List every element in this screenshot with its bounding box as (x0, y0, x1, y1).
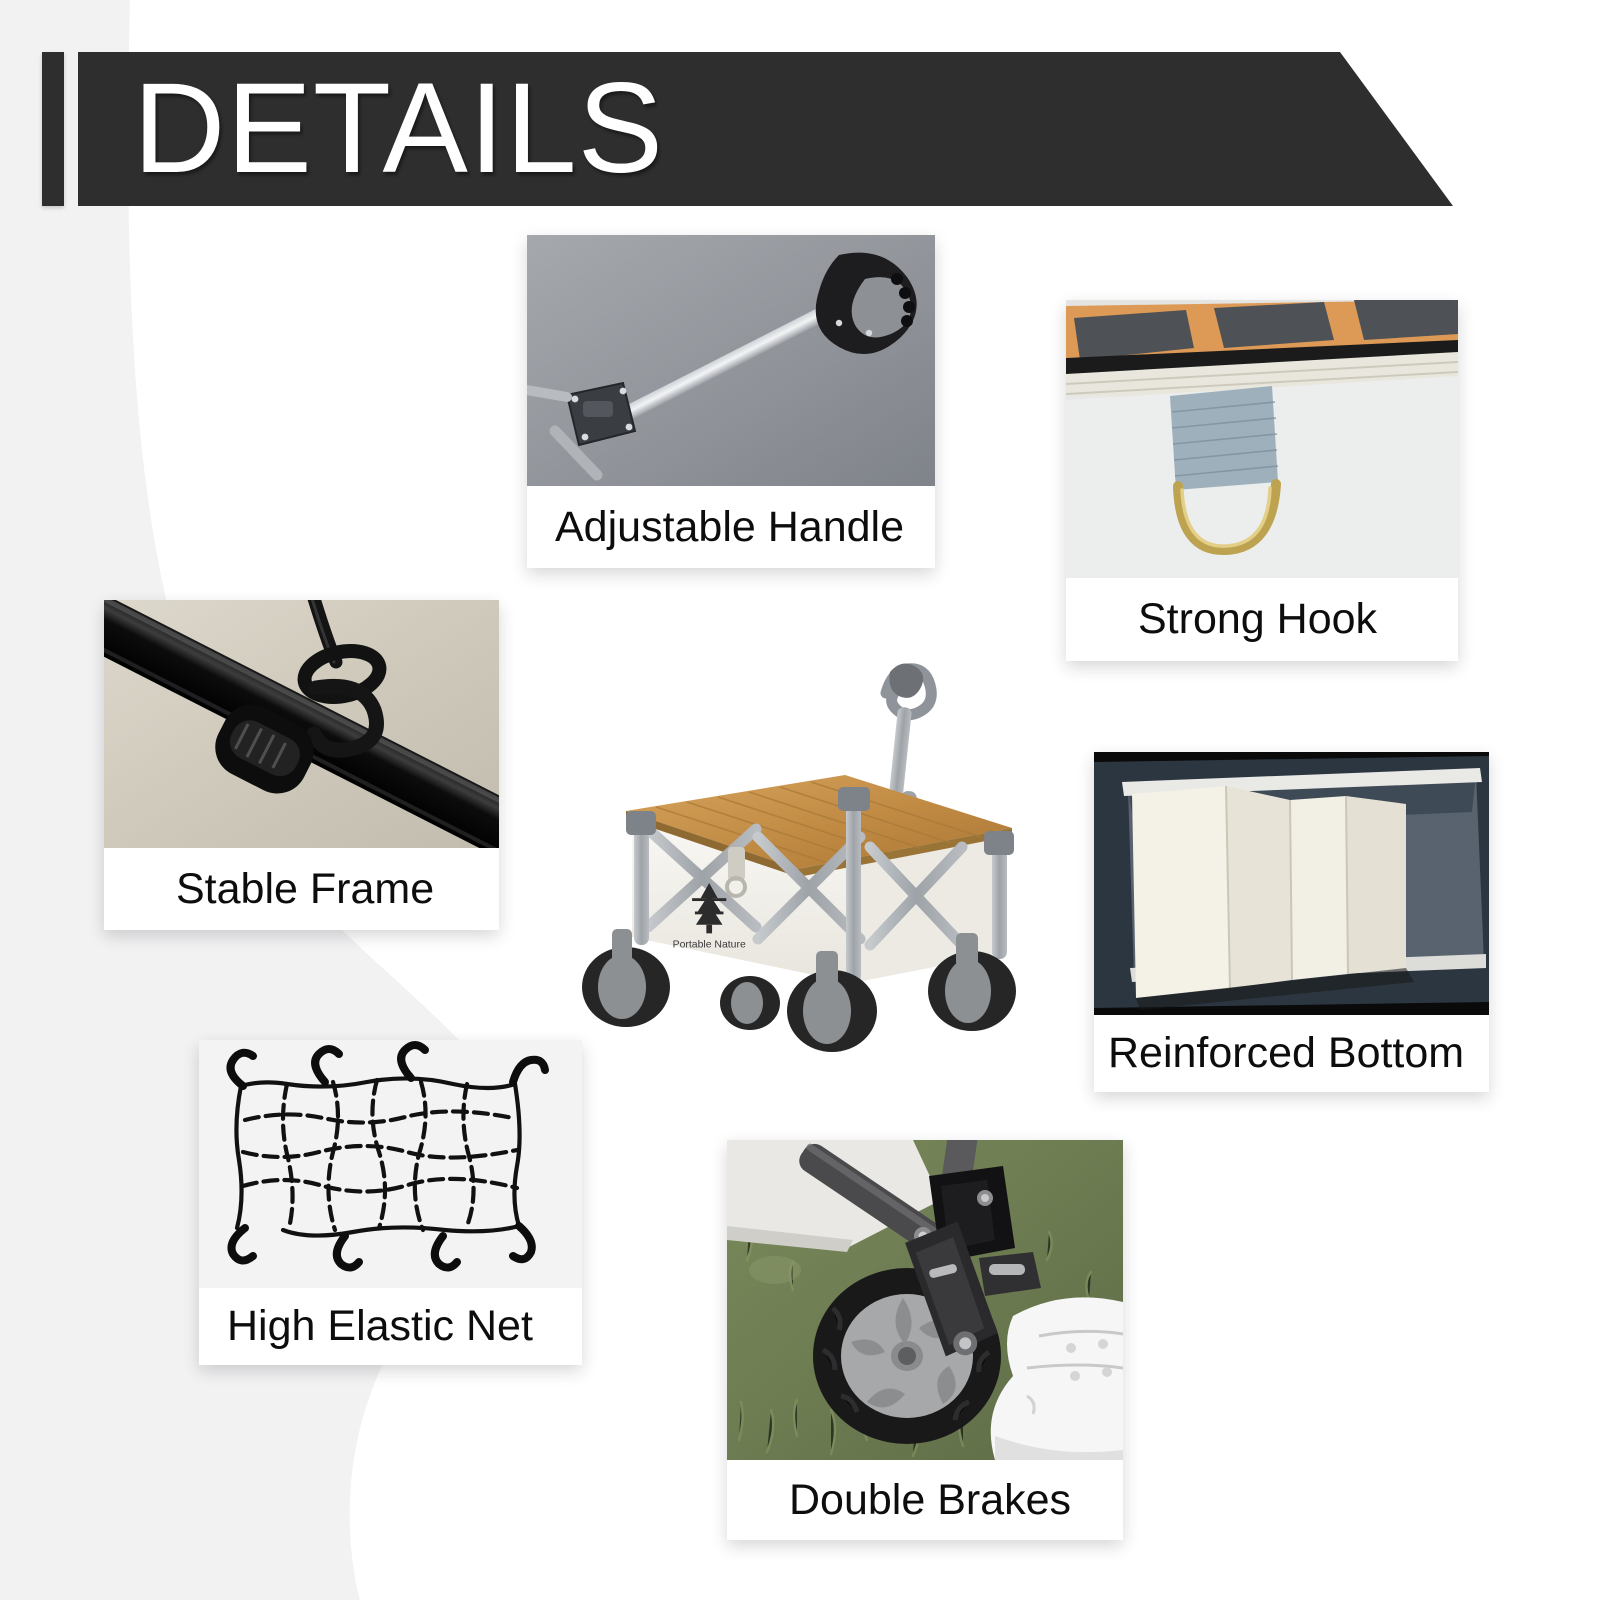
feature-photo-double-brakes (727, 1140, 1123, 1460)
feature-label-high-elastic-net: High Elastic Net (199, 1288, 582, 1365)
feature-card-strong-hook[interactable]: Strong Hook (1066, 300, 1458, 661)
page-title: DETAILS (133, 52, 664, 206)
feature-label-stable-frame: Stable Frame (104, 848, 499, 930)
feature-card-adjustable-handle[interactable]: Adjustable Handle (527, 235, 935, 568)
wagon-illustration: Portable Nature (560, 615, 1060, 1075)
feature-label-reinforced-bottom: Reinforced Bottom (1094, 1015, 1489, 1092)
feature-photo-strong-hook (1066, 300, 1458, 578)
feature-photo-stable-frame (104, 600, 499, 848)
feature-card-double-brakes[interactable]: Double Brakes (727, 1140, 1123, 1540)
feature-photo-reinforced-bottom (1094, 752, 1489, 1015)
feature-photo-adjustable-handle (527, 235, 935, 486)
header: DETAILS (0, 0, 1600, 230)
feature-label-double-brakes: Double Brakes (727, 1460, 1123, 1540)
feature-label-adjustable-handle: Adjustable Handle (527, 486, 935, 568)
accent-bar-icon (42, 52, 64, 206)
feature-card-stable-frame[interactable]: Stable Frame (104, 600, 499, 930)
feature-label-strong-hook: Strong Hook (1066, 578, 1458, 661)
details-infographic: DETAILS (0, 0, 1600, 1600)
feature-card-reinforced-bottom[interactable]: Reinforced Bottom (1094, 752, 1489, 1092)
svg-text:Portable Nature: Portable Nature (673, 940, 746, 951)
feature-photo-high-elastic-net (199, 1040, 582, 1288)
product-image: Portable Nature (560, 615, 1060, 1075)
feature-card-high-elastic-net[interactable]: High Elastic Net (199, 1040, 582, 1365)
